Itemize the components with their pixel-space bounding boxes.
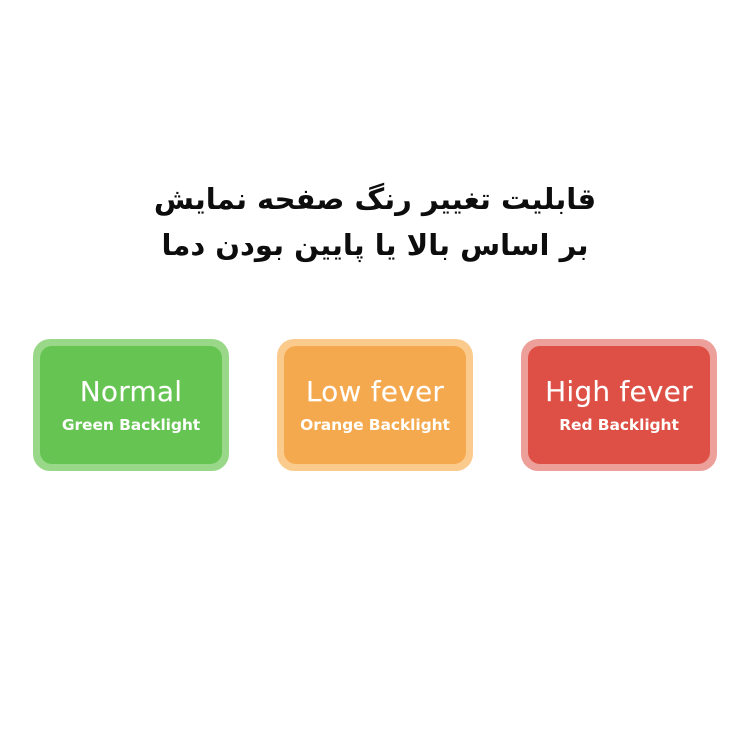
backlight-card-row: Normal Green Backlight Low fever Orange … (0, 339, 750, 474)
headline-line-1: قابلیت تغییر رنگ صفحه نمایش (0, 176, 750, 222)
card-title-normal: Normal (80, 376, 183, 408)
page-headline: قابلیت تغییر رنگ صفحه نمایش بر اساس بالا… (0, 176, 750, 268)
page-root: قابلیت تغییر رنگ صفحه نمایش بر اساس بالا… (0, 0, 750, 750)
card-title-high-fever: High fever (545, 376, 693, 408)
card-subtitle-normal: Green Backlight (62, 415, 200, 435)
card-subtitle-low-fever: Orange Backlight (300, 415, 450, 435)
backlight-card-high-fever: High fever Red Backlight (521, 339, 717, 471)
headline-line-2: بر اساس بالا یا پایین بودن دما (0, 222, 750, 268)
backlight-card-low-fever: Low fever Orange Backlight (277, 339, 473, 471)
card-inner-high-fever: High fever Red Backlight (528, 346, 710, 464)
card-subtitle-high-fever: Red Backlight (559, 415, 679, 435)
card-inner-normal: Normal Green Backlight (40, 346, 222, 464)
card-title-low-fever: Low fever (306, 376, 444, 408)
backlight-card-normal: Normal Green Backlight (33, 339, 229, 471)
card-inner-low-fever: Low fever Orange Backlight (284, 346, 466, 464)
